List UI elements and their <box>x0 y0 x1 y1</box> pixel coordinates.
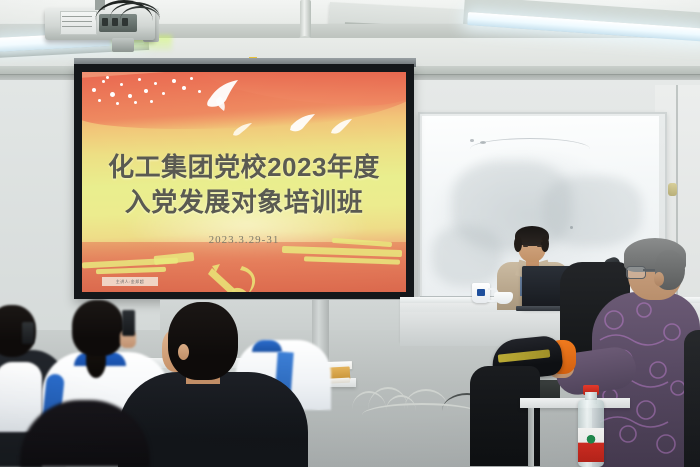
dove-icon <box>232 122 254 138</box>
speaker-eye <box>537 245 542 247</box>
audience-head <box>168 302 238 380</box>
eyeglasses <box>626 266 646 279</box>
audience-collar <box>252 340 282 352</box>
desk-leg <box>528 408 534 467</box>
wall-knob <box>668 183 677 196</box>
eyeglasses-temple <box>643 269 655 271</box>
desk <box>520 398 630 408</box>
projector-plate-line <box>62 21 92 22</box>
slide-title-line-1: 化工集团党校2023年度 <box>82 152 406 182</box>
projector-plate-line <box>62 26 92 27</box>
smartphone <box>22 322 34 344</box>
wall-left-panel <box>0 80 78 330</box>
audience-head <box>72 300 124 356</box>
classroom-photo: 化工集团党校2023年度 入党发展对象培训班 2023.3.29-31 主讲人:… <box>0 0 700 467</box>
whiteboard-mark <box>570 226 573 229</box>
speaker-eyebrow <box>522 240 529 242</box>
smartphone <box>122 310 135 336</box>
mug-logo <box>477 289 485 296</box>
projector-plate-line <box>62 16 92 17</box>
speaker-hair-side <box>541 236 549 252</box>
projector-label-plate <box>60 11 97 35</box>
dove-icon <box>288 112 318 134</box>
speaker-eye <box>523 245 528 247</box>
dove-icon <box>204 78 244 112</box>
party-emblem-icon <box>202 260 272 292</box>
slide-footer-label: 主讲人:金邦超 <box>102 277 158 286</box>
dove-icon <box>330 118 354 136</box>
projector-lens <box>112 38 134 52</box>
whiteboard-mark <box>470 139 474 142</box>
bottle-leaf-logo <box>585 432 597 444</box>
slide-title-line-2: 入党发展对象培训班 <box>82 187 406 217</box>
audience-ear <box>178 344 189 360</box>
audience-person-far-right <box>684 330 700 467</box>
slide-sparkles <box>86 74 216 114</box>
whiteboard-smudge <box>432 226 502 286</box>
whiteboard-smudge <box>542 176 642 246</box>
audience-ear <box>654 272 664 286</box>
slide-date: 2023.3.29-31 <box>82 234 406 246</box>
speaker-eyebrow <box>536 240 543 242</box>
speaker-hair-side <box>514 236 522 252</box>
projection-screen: 化工集团党校2023年度 入党发展对象培训班 2023.3.29-31 主讲人:… <box>82 72 406 292</box>
